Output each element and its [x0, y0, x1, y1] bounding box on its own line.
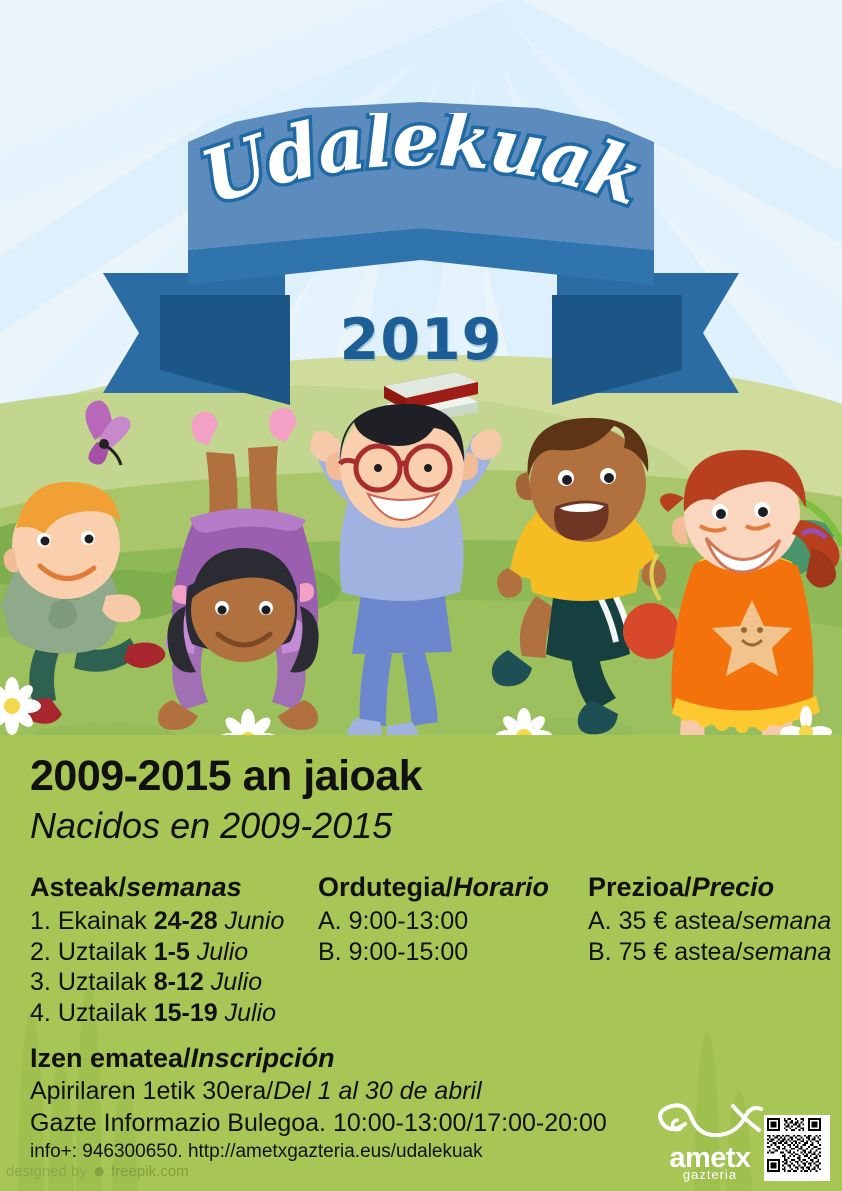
page-title-spanish: Nacidos en 2009-2015 — [30, 805, 392, 847]
schedule-row: A. 9:00-13:00 — [318, 906, 549, 937]
column-price: Prezioa/Precio A. 35 € astea/semana B. 7… — [588, 872, 831, 967]
registration-block: Izen ematea/Inscripción Apirilaren 1etik… — [30, 1043, 607, 1165]
butterfly-left-icon — [85, 400, 130, 465]
column-schedule-title: Ordutegia/Horario — [318, 872, 549, 903]
kid-boy-glasses-books — [310, 372, 502, 764]
column-weeks-title: Asteak/semanas — [30, 872, 284, 903]
week-row: 1. Ekainak 24-28 Junio — [30, 906, 284, 937]
ametx-logo: ametx gazteria — [655, 1104, 765, 1180]
price-row: B. 75 € astea/semana — [588, 937, 831, 968]
price-row: A. 35 € astea/semana — [588, 906, 831, 937]
registration-contact[interactable]: info+: 946300650. http://ametxgazteria.e… — [30, 1140, 607, 1165]
qr-code[interactable] — [764, 1115, 830, 1181]
ametx-logo-subtitle: gazteria — [655, 1167, 765, 1182]
registration-title: Izen ematea/Inscripción — [30, 1043, 607, 1074]
column-schedule: Ordutegia/Horario A. 9:00-13:00 B. 9:00-… — [318, 872, 549, 967]
children-illustration — [0, 0, 842, 780]
kid-girl-handstand — [158, 408, 319, 730]
registration-dates: Apirilaren 1etik 30era/Del 1 al 30 de ab… — [30, 1076, 607, 1108]
week-row: 4. Uztailak 15-19 Julio — [30, 998, 284, 1029]
registration-office: Gazte Informazio Bulegoa. 10:00-13:00/17… — [30, 1108, 607, 1140]
schedule-row: B. 9:00-15:00 — [318, 937, 549, 968]
page-title-basque: 2009-2015 an jaioak — [30, 752, 422, 801]
kid-boy-yellow-shirt — [492, 418, 703, 734]
week-row: 2. Uztailak 1-5 Julio — [30, 937, 284, 968]
freepik-credit: designed by ☻ freepik.com — [6, 1163, 189, 1180]
freepik-face-icon: ☻ — [91, 1163, 107, 1180]
column-weeks: Asteak/semanas 1. Ekainak 24-28 Junio 2.… — [30, 872, 284, 1028]
red-ball-icon — [623, 603, 679, 659]
week-row: 3. Uztailak 8-12 Julio — [30, 967, 284, 998]
column-price-title: Prezioa/Precio — [588, 872, 831, 903]
poster: Udalekuak 2019 — [0, 0, 842, 1191]
ametx-swirl-icon — [655, 1098, 765, 1144]
